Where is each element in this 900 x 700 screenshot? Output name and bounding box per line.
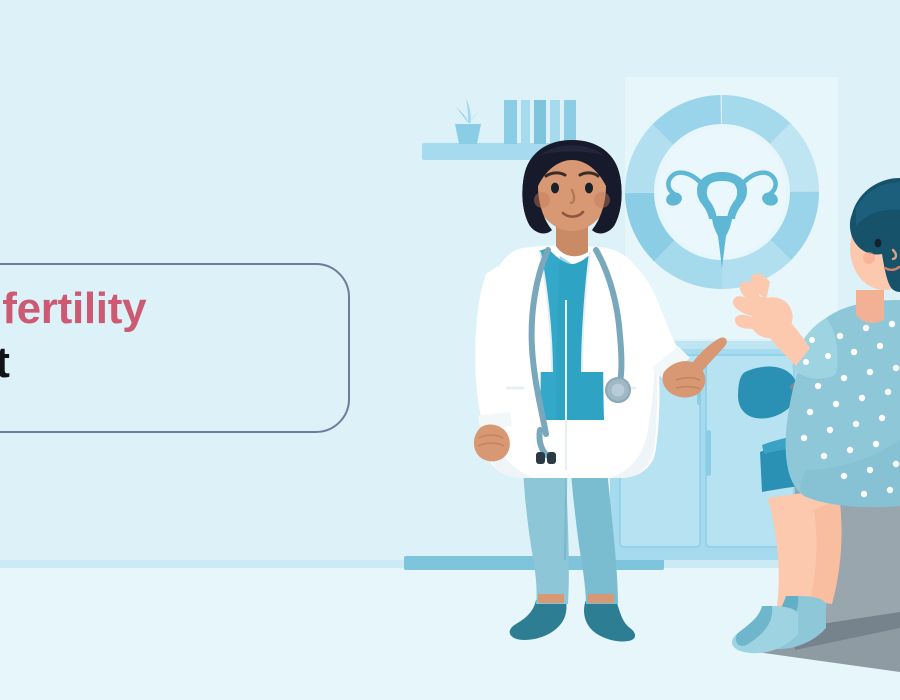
patient-neck (856, 290, 884, 323)
books-row (504, 100, 576, 144)
doctor-eye-left (551, 183, 559, 194)
headline-line-1: Female Infertility (0, 287, 318, 331)
patient-eye (875, 239, 882, 248)
headline-line-2: Treatment (0, 341, 318, 385)
banner-root: Female Infertility Treatment (0, 0, 900, 700)
headline-card: Female Infertility Treatment (0, 263, 350, 433)
doctor-eye-right (585, 183, 593, 194)
donut-diagram (639, 109, 805, 275)
